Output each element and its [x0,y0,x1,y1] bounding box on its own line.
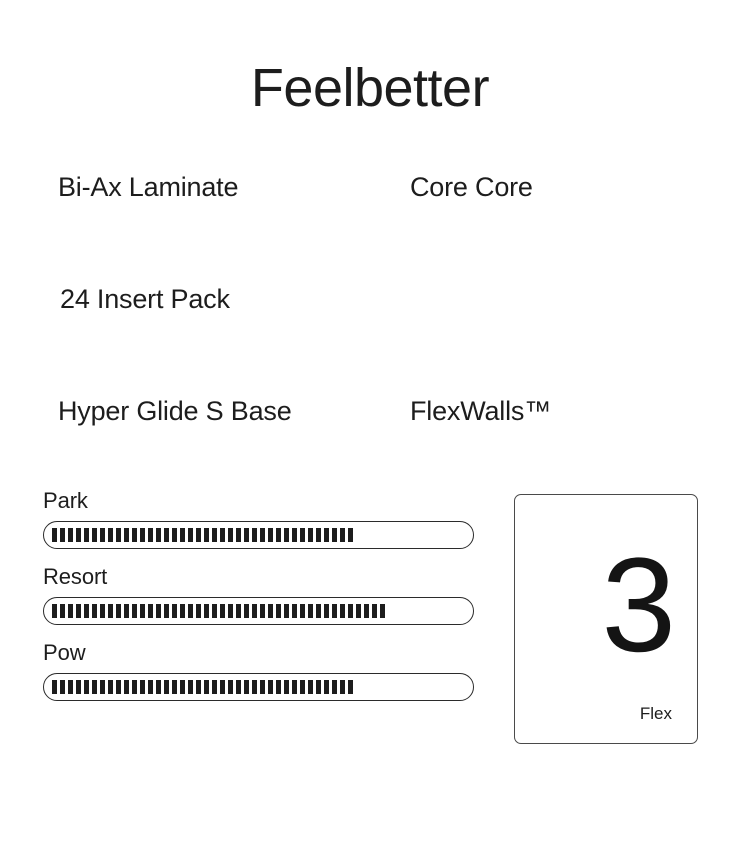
rating-tick [212,528,217,542]
rating-tick [300,680,305,694]
rating-tick [276,604,281,618]
rating-bar-resort [43,597,474,625]
rating-tick [108,528,113,542]
rating-tick [252,604,257,618]
rating-tick [236,680,241,694]
rating-tick [60,528,65,542]
rating-tick [380,604,385,618]
rating-park: Park [43,486,474,549]
rating-tick [204,680,209,694]
rating-tick [60,680,65,694]
rating-bar-pow [43,673,474,701]
flex-rating-card: 3 Flex [514,494,698,744]
rating-tick [84,528,89,542]
rating-tick [292,604,297,618]
rating-resort: Resort [43,562,474,625]
rating-tick [92,604,97,618]
rating-tick [316,680,321,694]
rating-tick [340,604,345,618]
rating-tick [164,528,169,542]
feature-row: Bi-Ax Laminate Core Core [58,168,678,280]
rating-tick [68,528,73,542]
rating-tick [116,680,121,694]
rating-tick [76,528,81,542]
rating-tick [196,528,201,542]
rating-tick [332,680,337,694]
rating-tick [60,604,65,618]
rating-tick [124,528,129,542]
rating-tick [268,528,273,542]
rating-tick [284,604,289,618]
rating-tick [108,680,113,694]
rating-tick [220,604,225,618]
rating-tick [132,528,137,542]
rating-tick [132,604,137,618]
rating-tick [172,604,177,618]
rating-tick [164,604,169,618]
feature-row: 24 Insert Pack [58,280,678,392]
rating-tick [140,528,145,542]
rating-tick [284,528,289,542]
rating-tick [364,604,369,618]
rating-tick [172,528,177,542]
page-title: Feelbetter [0,56,740,120]
rating-tick [100,604,105,618]
rating-tick [68,680,73,694]
feature-item: Hyper Glide S Base [58,392,410,430]
rating-tick [132,680,137,694]
rating-tick [372,604,377,618]
rating-tick [260,528,265,542]
rating-tick [308,528,313,542]
rating-tick [124,680,129,694]
rating-tick [300,604,305,618]
rating-tick [188,604,193,618]
rating-bar-fill [52,604,385,618]
rating-tick [140,680,145,694]
rating-tick [140,604,145,618]
rating-tick [332,604,337,618]
rating-tick [92,528,97,542]
rating-tick [156,604,161,618]
rating-label: Park [43,486,474,516]
rating-tick [52,604,57,618]
rating-tick [100,680,105,694]
rating-tick [52,528,57,542]
rating-tick [276,680,281,694]
rating-tick [156,680,161,694]
rating-tick [196,604,201,618]
feature-item: Core Core [410,168,678,206]
rating-tick [172,680,177,694]
rating-tick [236,528,241,542]
rating-tick [244,680,249,694]
rating-tick [348,604,353,618]
rating-tick [340,680,345,694]
rating-tick [340,528,345,542]
rating-tick [244,528,249,542]
flex-caption: Flex [640,703,672,725]
rating-tick [348,680,353,694]
rating-tick [252,528,257,542]
rating-tick [260,680,265,694]
rating-tick [324,680,329,694]
rating-label: Pow [43,638,474,668]
rating-tick [348,528,353,542]
rating-bar-fill [52,528,353,542]
rating-tick [148,680,153,694]
terrain-ratings: Park Resort Pow [43,486,474,701]
rating-tick [196,680,201,694]
rating-tick [252,680,257,694]
rating-tick [260,604,265,618]
feature-item: 24 Insert Pack [58,280,412,318]
feature-item: FlexWalls™ [410,392,678,430]
feature-item: Bi-Ax Laminate [58,168,410,206]
rating-tick [292,680,297,694]
rating-bar-park [43,521,474,549]
rating-tick [124,604,129,618]
rating-tick [332,528,337,542]
rating-tick [268,604,273,618]
rating-label: Resort [43,562,474,592]
rating-tick [108,604,113,618]
rating-tick [180,604,185,618]
product-spec-card: Feelbetter Bi-Ax Laminate Core Core 24 I… [0,0,740,850]
rating-tick [220,528,225,542]
rating-tick [236,604,241,618]
rating-tick [228,604,233,618]
lower-section: Park Resort Pow 3 Flex [0,486,740,756]
rating-tick [276,528,281,542]
rating-tick [116,528,121,542]
rating-tick [180,528,185,542]
rating-tick [212,680,217,694]
rating-tick [188,680,193,694]
rating-tick [84,604,89,618]
rating-tick [268,680,273,694]
rating-tick [316,528,321,542]
rating-tick [100,528,105,542]
rating-tick [92,680,97,694]
rating-tick [324,528,329,542]
rating-tick [76,680,81,694]
rating-tick [52,680,57,694]
rating-tick [164,680,169,694]
rating-tick [316,604,321,618]
rating-tick [324,604,329,618]
rating-tick [220,680,225,694]
rating-tick [292,528,297,542]
rating-tick [180,680,185,694]
rating-tick [228,528,233,542]
rating-tick [148,528,153,542]
feature-list: Bi-Ax Laminate Core Core 24 Insert Pack … [58,168,678,504]
rating-tick [308,680,313,694]
rating-tick [156,528,161,542]
rating-pow: Pow [43,638,474,701]
rating-tick [356,604,361,618]
rating-tick [116,604,121,618]
rating-tick [212,604,217,618]
rating-tick [300,528,305,542]
rating-tick [76,604,81,618]
rating-bar-fill [52,680,353,694]
rating-tick [148,604,153,618]
rating-tick [84,680,89,694]
rating-tick [188,528,193,542]
rating-tick [228,680,233,694]
rating-tick [284,680,289,694]
rating-tick [204,528,209,542]
rating-tick [308,604,313,618]
rating-tick [244,604,249,618]
rating-tick [204,604,209,618]
flex-value: 3 [601,539,673,673]
rating-tick [68,604,73,618]
